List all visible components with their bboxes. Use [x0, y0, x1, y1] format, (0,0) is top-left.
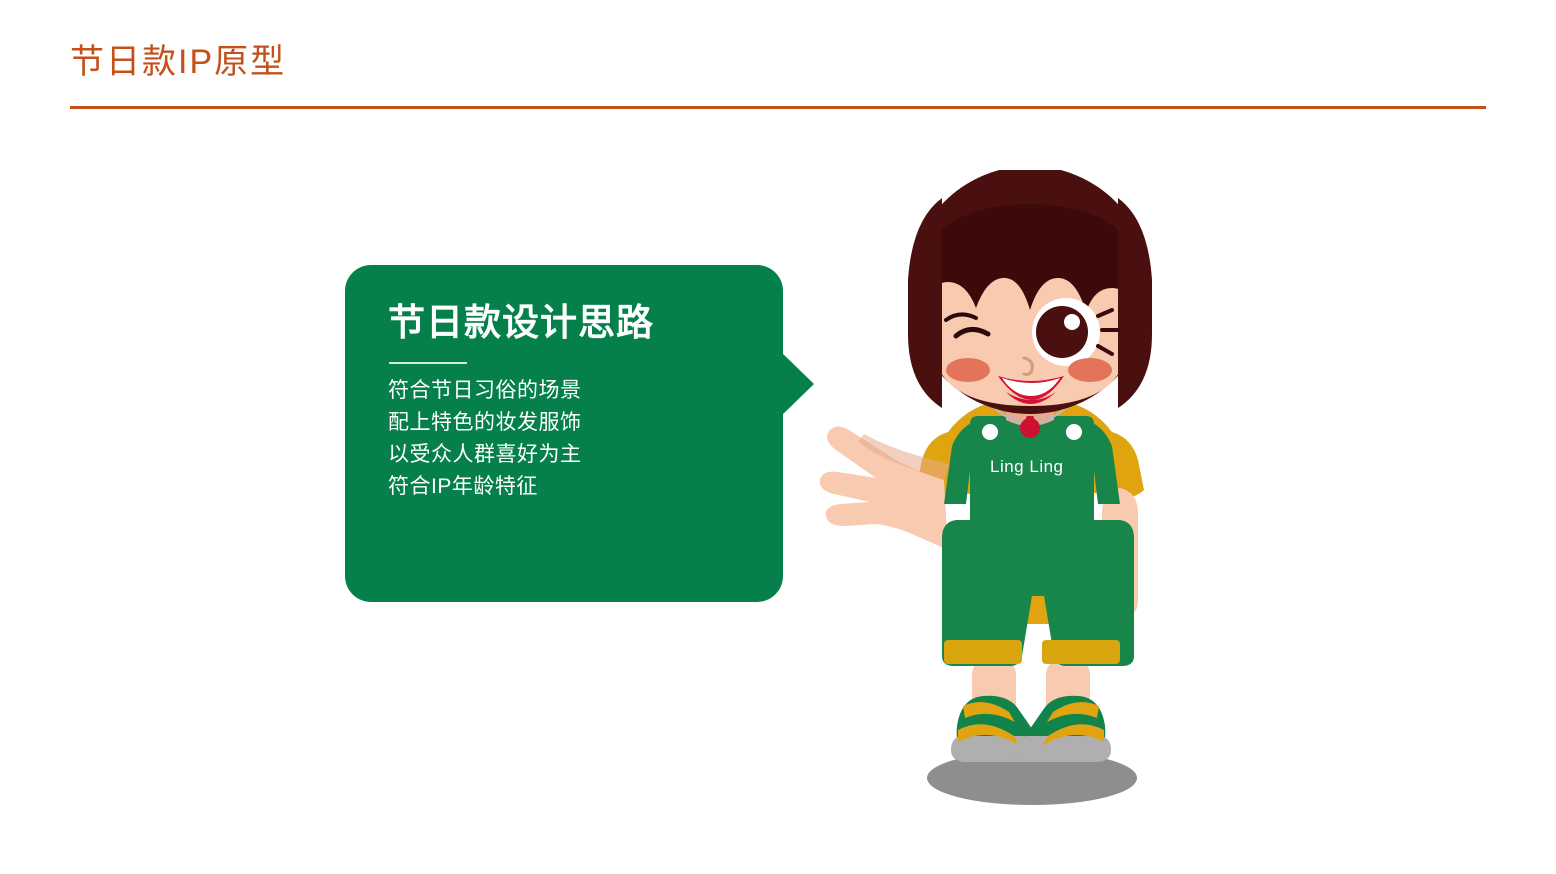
character-head: [908, 170, 1152, 414]
callout-line: 以受众人群喜好为主: [388, 439, 728, 471]
title-underline-rule: [70, 106, 1486, 109]
overall-button-left: [982, 424, 998, 440]
green-overalls: Ling Ling: [942, 416, 1134, 666]
hair-right-side: [1118, 198, 1152, 408]
page-title: 节日款IP原型: [70, 40, 286, 84]
callout-line: 符合节日习俗的场景: [388, 375, 728, 407]
callout-heading: 节日款设计思路: [388, 300, 654, 346]
callout-body-list: 符合节日习俗的场景 配上特色的妆发服饰 以受众人群喜好为主 符合IP年龄特征: [388, 375, 728, 503]
callout-line: 符合IP年龄特征: [388, 471, 728, 503]
callout-pointer-triangle: [781, 352, 814, 416]
overall-button-right: [1066, 424, 1082, 440]
hair-left-side: [908, 198, 942, 408]
left-cuff: [944, 640, 1022, 664]
left-cheek: [946, 358, 990, 382]
right-cuff: [1042, 640, 1120, 664]
right-cheek: [1068, 358, 1112, 382]
slide-header: 节日款IP原型: [0, 0, 1556, 120]
ip-character-illustration: Ling Ling: [820, 170, 1240, 820]
callout-divider-line: [389, 362, 467, 364]
callout-line: 配上特色的妆发服饰: [388, 407, 728, 439]
overalls-brand-text: Ling Ling: [990, 457, 1064, 476]
